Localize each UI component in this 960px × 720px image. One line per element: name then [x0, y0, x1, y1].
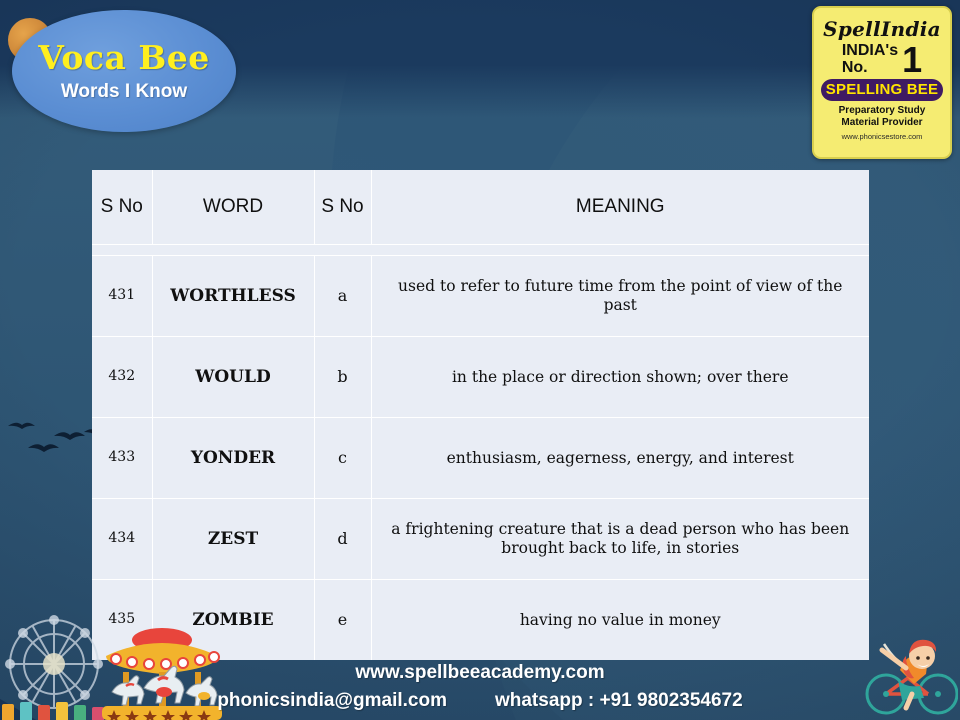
table-row: 433 YONDER c enthusiasm, eagerness, ener…: [92, 418, 869, 499]
column-header-sno-right: S No: [314, 170, 371, 245]
table-header: S No WORD S No MEANING: [92, 170, 869, 245]
badge-spelling-bee-banner: SPELLING BEE: [821, 79, 943, 101]
cell-meaning: enthusiasm, eagerness, energy, and inter…: [371, 418, 869, 499]
cell-meaning: in the place or direction shown; over th…: [371, 337, 869, 418]
footer-website[interactable]: www.spellbeeacademy.com: [0, 662, 960, 684]
cell-word: WORTHLESS: [152, 256, 314, 337]
vocabulary-table: S No WORD S No MEANING 431 WORTHLESS a u…: [92, 170, 869, 660]
spellindia-badge: SpellIndia INDIA's No. 1 SPELLING BEE Pr…: [812, 6, 952, 159]
cell-letter: e: [314, 580, 371, 661]
footer-contact-row: phonicsindia@gmail.com whatsapp : +91 98…: [0, 690, 960, 712]
cell-sno: 433: [92, 418, 152, 499]
column-header-word: WORD: [152, 170, 314, 245]
logo-title: Voca Bee: [38, 41, 209, 74]
badge-no-label: No.: [842, 60, 898, 77]
slide-canvas: Voca Bee Words I Know SpellIndia INDIA's…: [0, 0, 960, 720]
cell-letter: d: [314, 499, 371, 580]
badge-tagline: Preparatory Study Material Provider: [819, 105, 945, 129]
badge-brand-name: SpellIndia: [819, 17, 945, 41]
table-body: 431 WORTHLESS a used to refer to future …: [92, 256, 869, 661]
cell-letter: b: [314, 337, 371, 418]
footer: www.spellbeeacademy.com phonicsindia@gma…: [0, 662, 960, 712]
cell-sno: 434: [92, 499, 152, 580]
table-row: 431 WORTHLESS a used to refer to future …: [92, 256, 869, 337]
column-header-sno-left: S No: [92, 170, 152, 245]
cell-sno: 432: [92, 337, 152, 418]
cell-word: YONDER: [152, 418, 314, 499]
cell-letter: c: [314, 418, 371, 499]
table-separator: [92, 245, 869, 256]
badge-indias-label: INDIA's: [842, 43, 898, 60]
table-row: 432 WOULD b in the place or direction sh…: [92, 337, 869, 418]
vocabulary-table-container: S No WORD S No MEANING 431 WORTHLESS a u…: [92, 170, 869, 660]
cell-sno: 431: [92, 256, 152, 337]
cell-letter: a: [314, 256, 371, 337]
cell-meaning: a frightening creature that is a dead pe…: [371, 499, 869, 580]
table-header-row: S No WORD S No MEANING: [92, 170, 869, 245]
badge-rank-number: 1: [902, 44, 922, 76]
cell-word: WOULD: [152, 337, 314, 418]
badge-rank-group: INDIA's No. 1: [819, 43, 945, 77]
cell-word: ZEST: [152, 499, 314, 580]
header-separator-bar: [92, 245, 869, 256]
table-row: 434 ZEST d a frightening creature that i…: [92, 499, 869, 580]
cell-meaning: having no value in money: [371, 580, 869, 661]
column-header-meaning: MEANING: [371, 170, 869, 245]
footer-whatsapp[interactable]: whatsapp : +91 9802354672: [495, 690, 743, 712]
badge-url: www.phonicsestore.com: [819, 132, 945, 141]
cell-meaning: used to refer to future time from the po…: [371, 256, 869, 337]
voca-bee-logo: Voca Bee Words I Know: [12, 10, 236, 132]
logo-subtitle: Words I Know: [61, 82, 187, 101]
header-separator-row: [92, 245, 869, 256]
badge-rank-labels: INDIA's No.: [842, 43, 898, 77]
footer-email[interactable]: phonicsindia@gmail.com: [217, 690, 447, 712]
